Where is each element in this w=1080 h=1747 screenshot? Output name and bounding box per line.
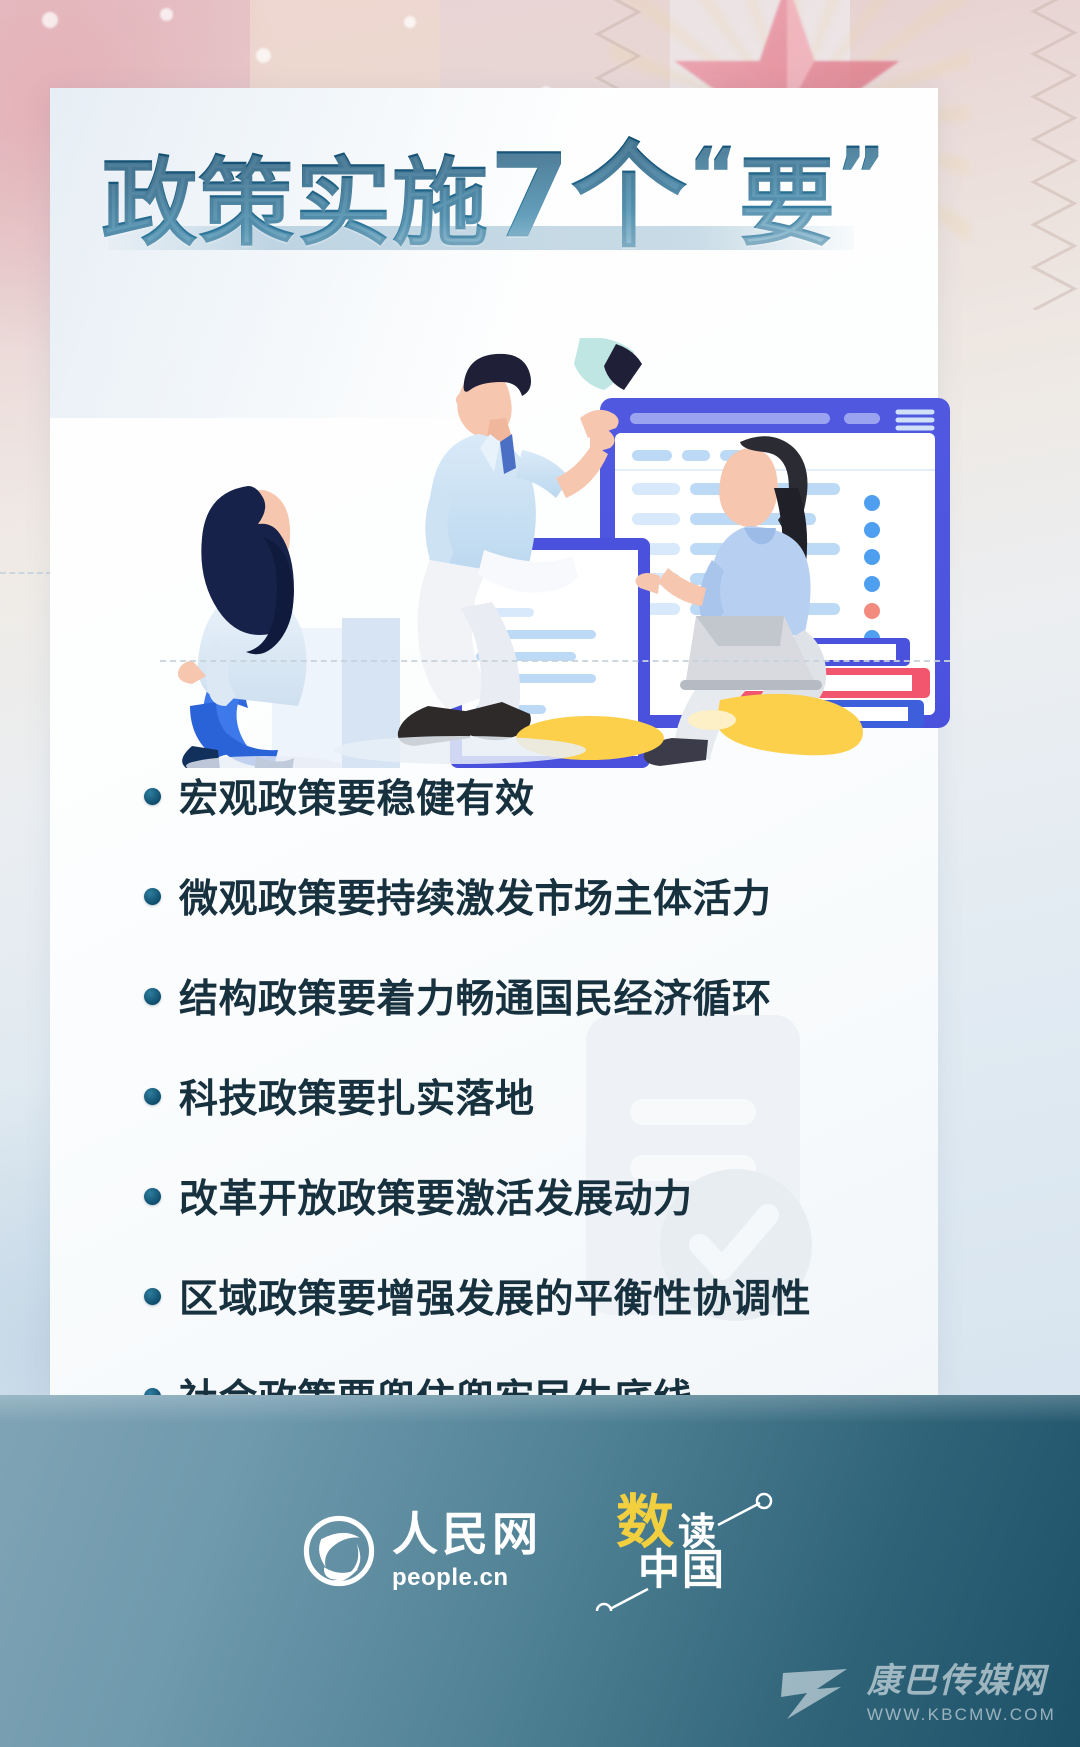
- zigzag-decoration: [1016, 0, 1080, 310]
- bullet-dot-icon: [144, 988, 161, 1005]
- people-daily-logo[interactable]: 人民网 people.cn: [302, 1511, 542, 1592]
- shudu-second-line: 中国: [638, 1549, 726, 1591]
- illustration-svg: [160, 338, 950, 768]
- bokeh-dot: [404, 16, 416, 28]
- footer-logos: 人民网 people.cn 数 读 中国: [0, 1491, 1080, 1611]
- list-item-label: 微观政策要持续激发市场主体活力: [179, 868, 772, 924]
- list-item-label: 改革开放政策要激活发展动力: [179, 1168, 693, 1224]
- content-card: 政策实施7个“要”: [50, 88, 938, 1395]
- title-part1: 政策实施: [101, 147, 489, 259]
- bokeh-dot: [256, 48, 271, 63]
- list-item[interactable]: 宏观政策要稳健有效: [144, 764, 904, 828]
- footer-fade: [0, 1395, 1080, 1423]
- people-daily-en-label: people.cn: [392, 1564, 509, 1592]
- kbcmw-logo-icon: [777, 1663, 855, 1725]
- bullet-dot-icon: [144, 1188, 161, 1205]
- dashed-ground-line: [160, 660, 950, 662]
- policy-list: 宏观政策要稳健有效 微观政策要持续激发市场主体活力 结构政策要着力畅通国民经济循…: [144, 764, 904, 1464]
- list-item-label: 区域政策要增强发展的平衡性协调性: [179, 1268, 811, 1324]
- list-item-label: 结构政策要着力畅通国民经济循环: [179, 968, 772, 1024]
- list-item[interactable]: 微观政策要持续激发市场主体活力: [144, 864, 904, 928]
- list-item-label: 科技政策要扎实落地: [179, 1068, 535, 1124]
- list-item[interactable]: 区域政策要增强发展的平衡性协调性: [144, 1264, 904, 1328]
- title-keyword: 要: [739, 147, 836, 259]
- infographic-poster: ZONE 政策实施7个“要”: [0, 0, 1080, 1747]
- kbcmw-watermark: 康巴传媒网 WWW.KBCMW.COM: [777, 1663, 1056, 1725]
- title-number: 7: [489, 129, 571, 264]
- kbcmw-url-label: WWW.KBCMW.COM: [867, 1705, 1056, 1725]
- kbcmw-cn-label: 康巴传媒网: [867, 1664, 1047, 1698]
- title-part2: 个: [571, 129, 688, 264]
- people-daily-cn-label: 人民网: [392, 1511, 542, 1557]
- footer-band: 人民网 people.cn 数 读 中国: [0, 1395, 1080, 1747]
- bokeh-dot: [42, 12, 58, 28]
- bokeh-dot: [160, 8, 173, 21]
- list-item[interactable]: 结构政策要着力畅通国民经济循环: [144, 964, 904, 1028]
- title-open-quote: “: [688, 130, 739, 219]
- page-title: 政策实施7个“要”: [50, 134, 938, 259]
- title-close-quote: ”: [836, 130, 887, 219]
- hero-illustration: [160, 338, 950, 768]
- shudu-big-char: 数: [616, 1493, 674, 1551]
- dashed-guide-left: [0, 572, 52, 574]
- list-item-label: 宏观政策要稳健有效: [179, 768, 535, 824]
- bullet-dot-icon: [144, 888, 161, 905]
- list-item[interactable]: 改革开放政策要激活发展动力: [144, 1164, 904, 1228]
- shudu-zhongguo-logo[interactable]: 数 读 中国: [588, 1491, 778, 1611]
- bullet-dot-icon: [144, 1288, 161, 1305]
- list-item[interactable]: 科技政策要扎实落地: [144, 1064, 904, 1128]
- bullet-dot-icon: [144, 788, 161, 805]
- people-daily-globe-icon: [302, 1514, 376, 1588]
- bullet-dot-icon: [144, 1088, 161, 1105]
